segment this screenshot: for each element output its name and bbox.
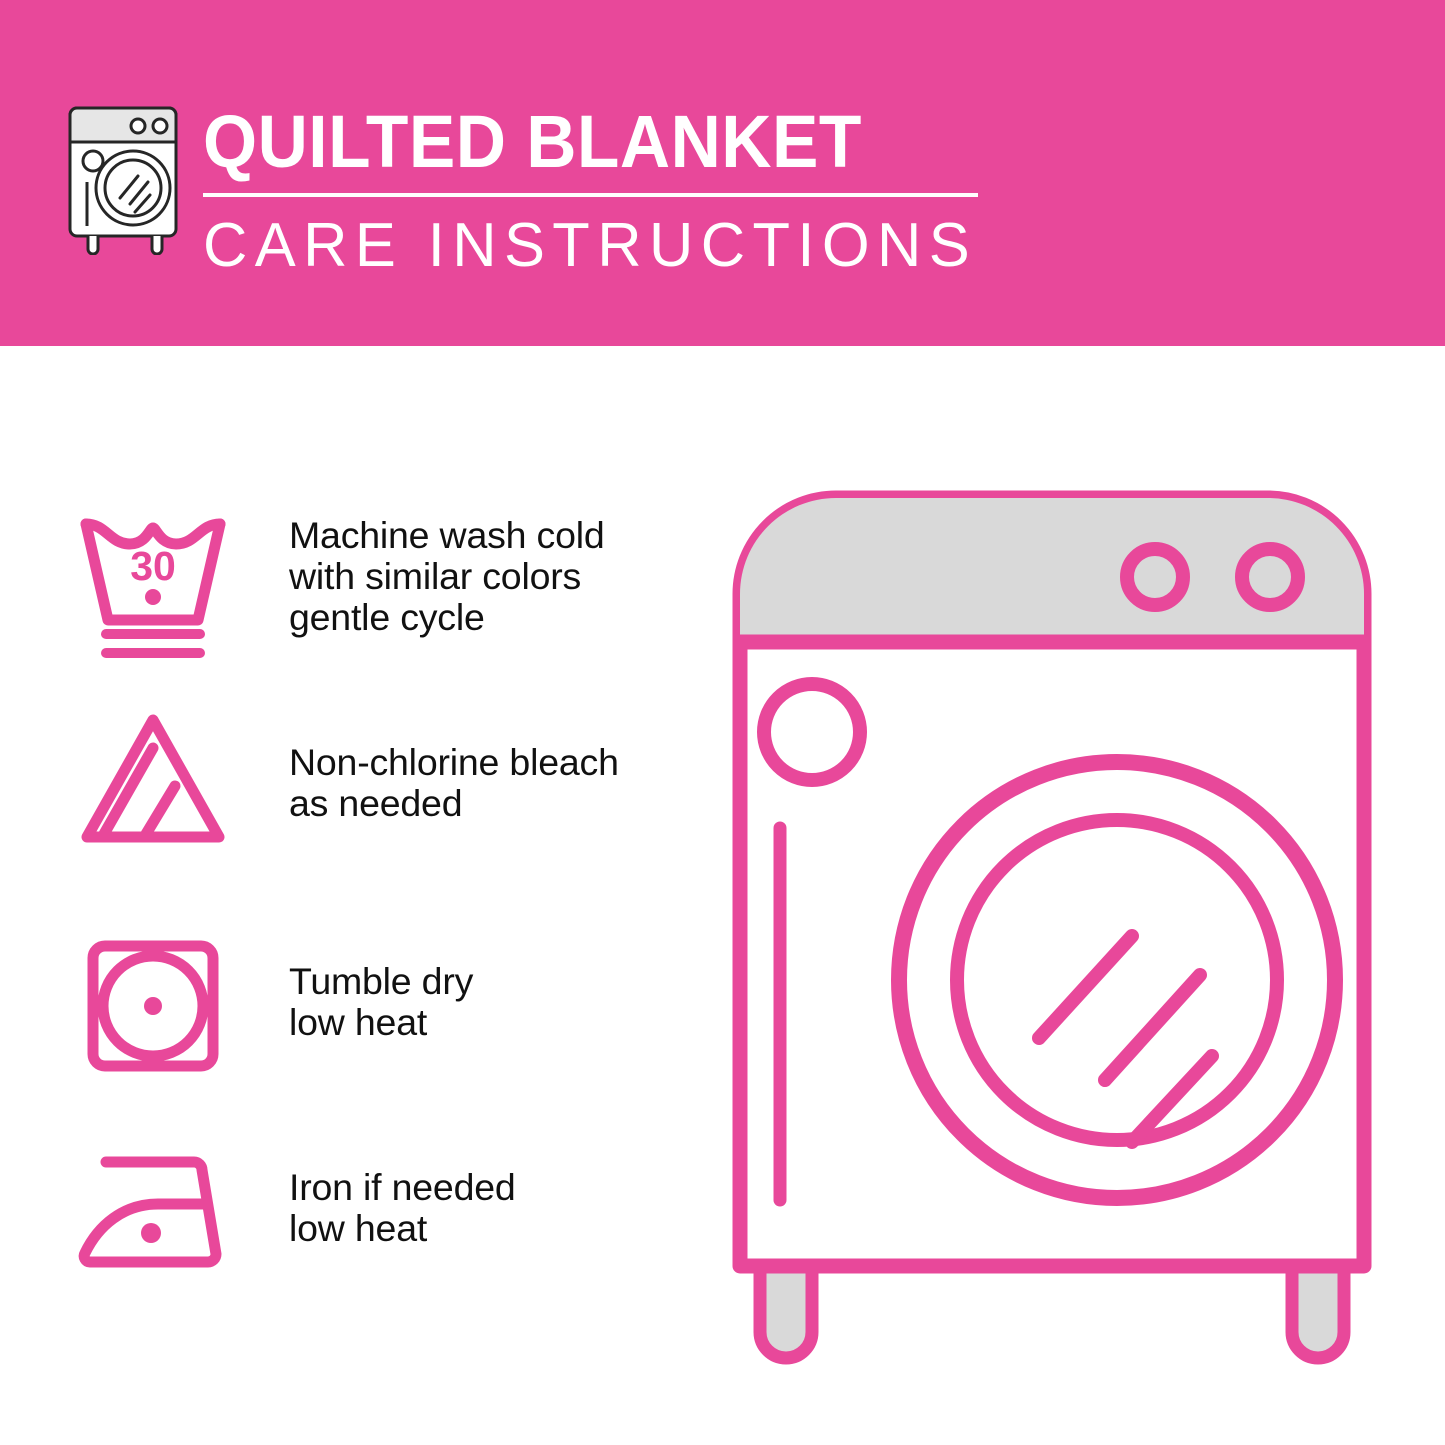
care-text-line: Machine wash cold (289, 515, 689, 556)
care-text-line: gentle cycle (289, 597, 689, 638)
care-text-line: as needed (289, 783, 689, 824)
care-instructions-page: QUILTED BLANKET CARE INSTRUCTIONS 30 Mac… (0, 0, 1445, 1445)
machine-leg-left (760, 1260, 812, 1358)
front-load-washing-machine-illustration (712, 470, 1412, 1370)
care-instruction-list: 30 Machine wash cold with similar colors… (0, 346, 700, 1445)
washing-machine-icon (62, 100, 192, 255)
care-row-text: Non-chlorine bleach as needed (289, 742, 689, 824)
care-text-line: low heat (289, 1208, 689, 1249)
iron-low-heat-icon (68, 1132, 238, 1302)
page-title: QUILTED BLANKET (203, 102, 946, 182)
care-text-line: Iron if needed (289, 1167, 689, 1208)
care-row-iron: Iron if needed low heat (0, 1132, 700, 1332)
page-subtitle: CARE INSTRUCTIONS (203, 211, 985, 281)
bleach-triangle-non-chlorine-icon (68, 706, 238, 876)
care-row-bleach: Non-chlorine bleach as needed (0, 706, 700, 906)
care-row-machine-wash: 30 Machine wash cold with similar colors… (0, 498, 700, 698)
title-divider (203, 193, 978, 197)
care-row-text: Iron if needed low heat (289, 1167, 689, 1249)
care-row-text: Machine wash cold with similar colors ge… (289, 515, 689, 638)
care-row-text: Tumble dry low heat (289, 961, 689, 1043)
tumble-dry-low-heat-icon (68, 924, 238, 1094)
machine-control-panel (740, 498, 1364, 642)
care-text-line: with similar colors (289, 556, 689, 597)
care-text-line: low heat (289, 1002, 689, 1043)
header-title-group: QUILTED BLANKET CARE INSTRUCTIONS (203, 102, 993, 281)
care-text-line: Non-chlorine bleach (289, 742, 689, 783)
machine-leg-right (1292, 1260, 1344, 1358)
wash-temperature-value: 30 (130, 543, 176, 589)
header-banner: QUILTED BLANKET CARE INSTRUCTIONS (0, 0, 1445, 346)
care-row-tumble-dry: Tumble dry low heat (0, 924, 700, 1124)
care-text-line: Tumble dry (289, 961, 689, 1002)
wash-tub-30-gentle-icon: 30 (68, 498, 238, 668)
